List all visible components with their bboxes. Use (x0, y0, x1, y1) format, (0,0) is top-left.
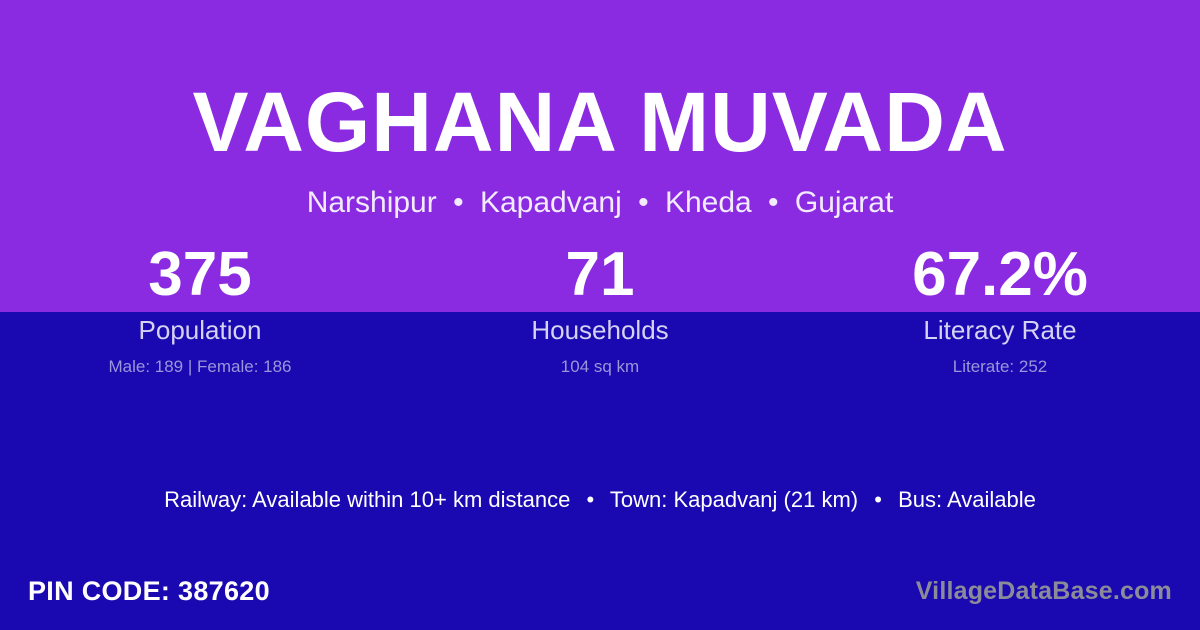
stat-literacy-rate: 67.2% Literacy Rate Literate: 252 (800, 240, 1200, 378)
stat-population: 375 Population Male: 189 | Female: 186 (0, 240, 400, 378)
breadcrumb-separator-icon: • (630, 188, 657, 218)
site-branding: VillageDataBase.com (916, 570, 1172, 612)
pin-code: PIN CODE: 387620 (28, 570, 270, 612)
stat-sublabel: Literate: 252 (800, 346, 1200, 378)
stat-value: 71 (400, 240, 800, 310)
infra-item-town: Town: Kapadvanj (21 km) (610, 487, 858, 512)
infrastructure-line: Railway: Available within 10+ km distanc… (0, 484, 1200, 516)
stat-value: 67.2% (800, 240, 1200, 310)
stat-households: 71 Households 104 sq km (400, 240, 800, 378)
breadcrumb-item-taluka: Kapadvanj (480, 186, 622, 219)
breadcrumb: Narshipur • Kapadvanj • Kheda • Gujarat (0, 164, 1200, 218)
infra-item-railway: Railway: Available within 10+ km distanc… (164, 487, 570, 512)
stats-row: 375 Population Male: 189 | Female: 186 7… (0, 240, 1200, 378)
breadcrumb-item-village: Narshipur (307, 186, 437, 219)
breadcrumb-item-state: Gujarat (795, 186, 893, 219)
stat-sublabel: 104 sq km (400, 346, 800, 378)
card-header: VAGHANA MUVADA Narshipur • Kapadvanj • K… (0, 0, 1200, 218)
infra-separator-icon: • (576, 484, 604, 516)
page-title: VAGHANA MUVADA (0, 0, 1200, 164)
village-info-card: VAGHANA MUVADA Narshipur • Kapadvanj • K… (0, 0, 1200, 630)
stat-sublabel: Male: 189 | Female: 186 (0, 346, 400, 378)
breadcrumb-item-district: Kheda (665, 186, 752, 219)
card-footer: PIN CODE: 387620 VillageDataBase.com (0, 570, 1200, 618)
stat-value: 375 (0, 240, 400, 310)
stat-label: Literacy Rate (800, 310, 1200, 346)
stat-label: Households (400, 310, 800, 346)
breadcrumb-separator-icon: • (445, 188, 472, 218)
infra-separator-icon: • (864, 484, 892, 516)
stat-label: Population (0, 310, 400, 346)
infra-item-bus: Bus: Available (898, 487, 1036, 512)
breadcrumb-separator-icon: • (760, 188, 787, 218)
